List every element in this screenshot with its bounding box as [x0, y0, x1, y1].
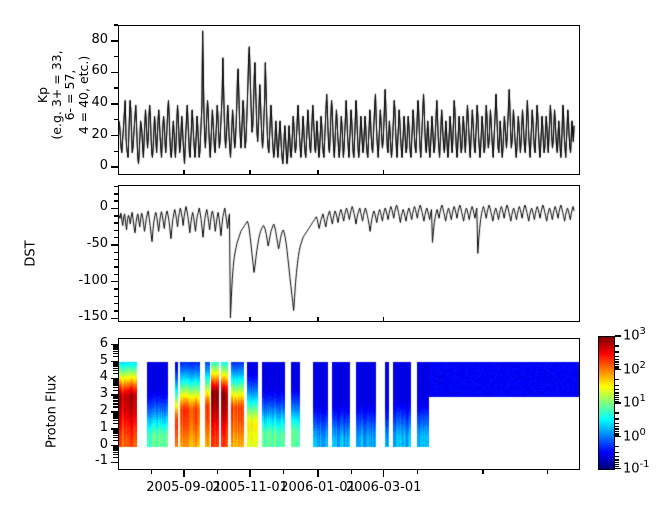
colorbar-minor-tick [615, 446, 619, 447]
dst-yminor-tick [114, 200, 118, 202]
proton-flux-spectrogram-canvas [119, 339, 580, 470]
flux-ytick-label: 0 [64, 437, 108, 452]
flux-ytick-label: 2 [64, 403, 108, 418]
flux-yminor-tick [113, 349, 118, 350]
colorbar-exponent: 2 [640, 360, 646, 371]
x-tick-label: 2006-03-01 [324, 480, 444, 495]
colorbar-tick-mark [615, 436, 621, 438]
flux-ytick-mark [111, 462, 118, 464]
dst-ytick-mark [111, 244, 118, 246]
dst-ytick-label: -100 [56, 273, 108, 288]
flux-yminor-tick [113, 383, 118, 384]
colorbar-tick-label: 100 [623, 427, 646, 444]
flux-yminor-tick [113, 373, 118, 374]
flux-yminor-tick [113, 450, 118, 451]
flux-yminor-tick [113, 440, 118, 441]
flux-yminor-tick [113, 366, 118, 367]
x-major-tick [317, 470, 319, 477]
flux-yminor-tick [113, 437, 118, 438]
flux-yminor-tick [113, 416, 118, 417]
dst-yminor-tick [114, 303, 118, 305]
flux-ytick-label: 6 [64, 336, 108, 351]
colorbar-exponent: 1 [640, 393, 646, 404]
kp-ytick-mark [111, 40, 118, 42]
flux-yminor-tick [113, 370, 118, 371]
flux-ytick-label: -1 [64, 453, 108, 468]
kp-x-tick [317, 170, 319, 175]
x-minor-tick [482, 470, 483, 474]
dst-yminor-tick [114, 310, 118, 312]
flux-yminor-tick [113, 433, 118, 434]
kp-ytick-label: 0 [58, 158, 108, 173]
flux-yminor-tick [113, 390, 118, 391]
flux-yminor-tick [113, 446, 118, 447]
kp-ytick-mark [111, 103, 118, 105]
x-major-tick [249, 470, 251, 477]
kp-ytick-label: 80 [58, 32, 108, 47]
flux-ytick-label: 5 [64, 353, 108, 368]
kp-yminor-tick [114, 87, 118, 89]
kp-x-tick [249, 170, 251, 175]
dst-yminor-tick [114, 252, 118, 254]
flux-yminor-tick [113, 415, 118, 416]
flux-yminor-tick [113, 379, 118, 380]
flux-yminor-tick [113, 381, 118, 382]
colorbar-tick-label: 102 [623, 360, 646, 377]
colorbar-minor-tick [615, 401, 619, 402]
colorbar-minor-tick [615, 452, 619, 453]
dst-yminor-tick [114, 215, 118, 217]
dst-x-tick [249, 317, 251, 322]
flux-yminor-tick [113, 401, 118, 402]
dst-yminor-tick [114, 296, 118, 298]
figure-root: Kp (e.g. 3+ = 33, 6- = 57, 4 = 40, etc.)… [0, 0, 665, 523]
flux-yminor-tick [113, 432, 118, 433]
colorbar-minor-tick [615, 367, 619, 368]
flux-yminor-tick [113, 345, 118, 346]
colorbar-exponent: -1 [640, 459, 650, 470]
kp-ytick-label: 40 [58, 95, 108, 110]
flux-yminor-tick [113, 454, 118, 455]
flux-yminor-tick [113, 384, 118, 385]
flux-yminor-tick [113, 429, 118, 430]
dst-ytick-mark [111, 208, 118, 210]
flux-ytick-label: 4 [64, 369, 108, 384]
colorbar-tick-mark [615, 369, 621, 371]
dst-yminor-tick [114, 274, 118, 276]
dst-yminor-tick [114, 186, 118, 188]
kp-yminor-tick [114, 151, 118, 153]
colorbar-minor-tick [615, 356, 619, 357]
colorbar-minor-tick [615, 459, 619, 460]
colorbar-base: 10 [623, 461, 640, 476]
colorbar-gradient [599, 337, 614, 469]
dst-yminor-tick [114, 230, 118, 232]
dst-yminor-tick [114, 193, 118, 195]
colorbar-minor-tick [615, 426, 619, 427]
colorbar-tick-label: 101 [623, 393, 646, 410]
kp-ytick-mark [111, 135, 118, 137]
dst-x-tick [183, 317, 185, 322]
kp-panel [118, 25, 580, 175]
flux-yminor-tick [113, 403, 118, 404]
kp-series-canvas [119, 26, 580, 175]
flux-yminor-tick [113, 420, 118, 421]
colorbar-minor-tick [615, 379, 619, 380]
kp-ytick-mark [111, 166, 118, 168]
colorbar-base: 10 [623, 395, 640, 410]
colorbar-minor-tick [615, 412, 619, 413]
colorbar-minor-tick [615, 434, 619, 435]
x-minor-tick [547, 470, 548, 474]
flux-yminor-tick [113, 356, 118, 357]
dst-ytick-mark [111, 281, 118, 283]
colorbar-minor-tick [615, 428, 619, 429]
kp-x-tick [183, 170, 185, 175]
flux-yminor-tick [113, 395, 118, 396]
dst-panel [118, 185, 580, 322]
flux-yminor-tick [113, 452, 118, 453]
flux-yminor-tick [113, 412, 118, 413]
x-minor-tick [351, 470, 352, 474]
flux-yminor-tick [113, 362, 118, 363]
kp-x-tick [383, 170, 385, 175]
dst-yminor-tick [114, 222, 118, 224]
colorbar-minor-tick [615, 418, 619, 419]
kp-ytick-label: 20 [58, 127, 108, 142]
colorbar-exponent: 3 [640, 326, 646, 337]
x-minor-tick [217, 470, 218, 474]
kp-yminor-tick [114, 119, 118, 121]
dst-yminor-tick [114, 259, 118, 261]
flux-yminor-tick [113, 400, 118, 401]
x-minor-tick [417, 470, 418, 474]
dst-ytick-mark [111, 318, 118, 320]
colorbar-minor-tick [615, 395, 619, 396]
dst-axis-label: DST [24, 224, 39, 284]
dst-yminor-tick [114, 237, 118, 239]
colorbar-minor-tick [615, 359, 619, 360]
x-major-tick [183, 470, 185, 477]
dst-ytick-label: -50 [56, 236, 108, 251]
colorbar [598, 336, 615, 470]
colorbar-minor-tick [615, 351, 619, 352]
colorbar-minor-tick [615, 423, 619, 424]
flux-yminor-tick [113, 365, 118, 366]
colorbar-minor-tick [615, 385, 619, 386]
flux-yminor-tick [113, 457, 118, 458]
kp-ytick-label: 60 [58, 63, 108, 78]
colorbar-base: 10 [623, 429, 640, 444]
colorbar-tick-label: 103 [623, 326, 646, 343]
flux-yminor-tick [113, 423, 118, 424]
dst-x-tick [383, 317, 385, 322]
colorbar-minor-tick [615, 361, 619, 362]
colorbar-base: 10 [623, 328, 640, 343]
flux-yminor-tick [113, 348, 118, 349]
kp-yminor-tick [114, 24, 118, 26]
flux-yminor-tick [113, 406, 118, 407]
flux-yminor-tick [113, 351, 118, 352]
flux-yminor-tick [113, 368, 118, 369]
colorbar-tick-label: 10-1 [623, 459, 650, 476]
kp-ytick-mark [111, 72, 118, 74]
colorbar-tick-mark [615, 335, 621, 337]
colorbar-minor-tick [615, 389, 619, 390]
flux-yminor-tick [113, 418, 118, 419]
colorbar-base: 10 [623, 362, 640, 377]
colorbar-minor-tick [615, 468, 619, 469]
dst-ytick-label: -150 [56, 309, 108, 324]
dst-x-tick [317, 317, 319, 322]
proton-flux-panel [118, 338, 580, 470]
colorbar-minor-tick [615, 345, 619, 346]
flux-yminor-tick [113, 398, 118, 399]
flux-ytick-label: 1 [64, 420, 108, 435]
x-minor-tick [283, 470, 284, 474]
kp-yminor-tick [114, 56, 118, 58]
proton-flux-axis-label: Proton Flux [45, 352, 60, 472]
flux-yminor-tick [113, 387, 118, 388]
colorbar-exponent: 0 [640, 427, 646, 438]
colorbar-minor-tick [615, 392, 619, 393]
dst-yminor-tick [114, 266, 118, 268]
flux-yminor-tick [113, 353, 118, 354]
flux-yminor-tick [113, 435, 118, 436]
dst-series-canvas [119, 186, 580, 322]
dst-ytick-label: 0 [56, 199, 108, 214]
dst-yminor-tick [114, 288, 118, 290]
flux-yminor-tick [113, 449, 118, 450]
x-major-tick [383, 470, 385, 477]
colorbar-minor-tick [615, 456, 619, 457]
colorbar-tick-mark [615, 402, 621, 404]
colorbar-minor-tick [615, 462, 619, 463]
flux-ytick-label: 3 [64, 386, 108, 401]
x-minor-tick [151, 470, 152, 474]
